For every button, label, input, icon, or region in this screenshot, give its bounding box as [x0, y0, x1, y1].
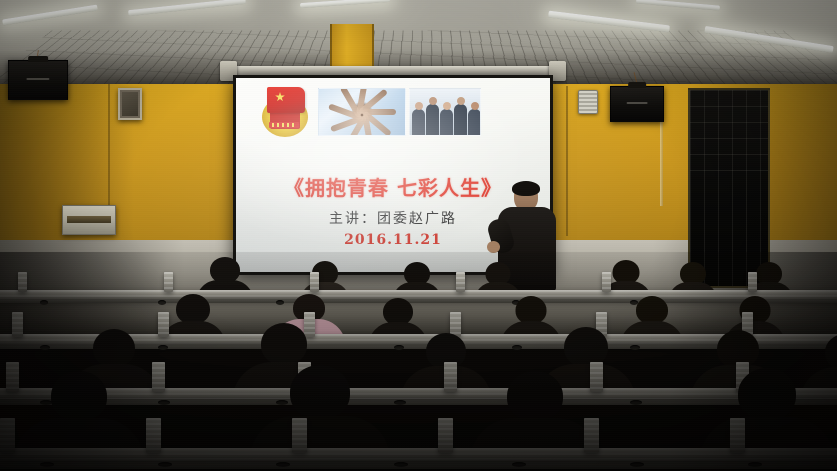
wall-seam-right — [566, 86, 568, 236]
desk-cable-grommet — [40, 300, 48, 305]
desk-cable-grommet — [630, 462, 644, 467]
joined-hands-photo — [318, 88, 406, 136]
ceiling-light-2 — [128, 0, 246, 16]
cubicle-divider — [438, 418, 453, 453]
cubicle-divider — [164, 272, 173, 292]
cubicle-divider — [444, 362, 457, 392]
slide-header-row — [236, 86, 550, 138]
cubicle-divider — [146, 418, 161, 453]
cubicle-divider — [730, 418, 745, 453]
wall-vent-right — [578, 90, 598, 114]
ceiling-light-1 — [2, 5, 98, 26]
cubicle-divider — [292, 418, 307, 453]
audience-head — [636, 296, 668, 324]
cubicle-divider — [748, 272, 757, 292]
audience-head — [516, 296, 547, 324]
ceiling-light-3 — [300, 0, 390, 8]
desk-cable-grommet — [630, 400, 642, 405]
ceiling-light-6 — [636, 0, 720, 11]
desk-cable-grommet — [40, 345, 50, 350]
desk-cable-grommet — [748, 462, 762, 467]
audience-head — [825, 334, 837, 370]
cubicle-divider — [310, 272, 319, 292]
young-professionals-group-photo — [409, 88, 481, 136]
seated-audience — [0, 252, 837, 471]
audience-head — [564, 327, 608, 367]
desk-cable-grommet — [158, 462, 172, 467]
cubicle-divider — [584, 418, 599, 453]
desk-cable-grommet — [158, 400, 170, 405]
audience-head — [290, 365, 350, 419]
audience-head — [93, 329, 135, 367]
audience-head — [507, 371, 563, 421]
communist-youth-league-emblem-icon — [260, 87, 310, 137]
desk-cable-grommet — [276, 462, 290, 467]
wall-speaker-left — [8, 60, 68, 100]
desk-cable-grommet — [394, 462, 408, 467]
desk-cable-grommet — [512, 345, 522, 350]
slide-photo-strip — [318, 88, 528, 136]
desk-cable-grommet — [512, 462, 526, 467]
audience-head — [383, 298, 413, 325]
desk-cable-grommet — [40, 462, 54, 467]
ceiling-light-4 — [548, 11, 670, 33]
wall-speaker-right — [610, 86, 664, 122]
cubicle-divider — [152, 362, 165, 392]
cubicle-divider — [456, 272, 465, 292]
desk-row-rail — [0, 448, 837, 461]
audience-head — [261, 323, 307, 365]
desk-surface — [0, 461, 837, 469]
lecture-hall-photo: 《拥抱青春 七彩人生》 主讲：团委赵广路 2016.11.21 — [0, 0, 837, 471]
cubicle-divider — [18, 272, 27, 292]
audience-head — [738, 368, 796, 420]
cubicle-divider — [0, 418, 15, 453]
wall-control-box — [62, 205, 116, 235]
audience-head — [51, 371, 107, 421]
framed-notice — [118, 88, 142, 120]
cubicle-divider — [12, 312, 23, 337]
desk-cable-grommet — [394, 400, 406, 405]
presenter-hair — [512, 181, 540, 196]
cubicle-divider — [602, 272, 611, 292]
audience-head — [176, 294, 210, 324]
